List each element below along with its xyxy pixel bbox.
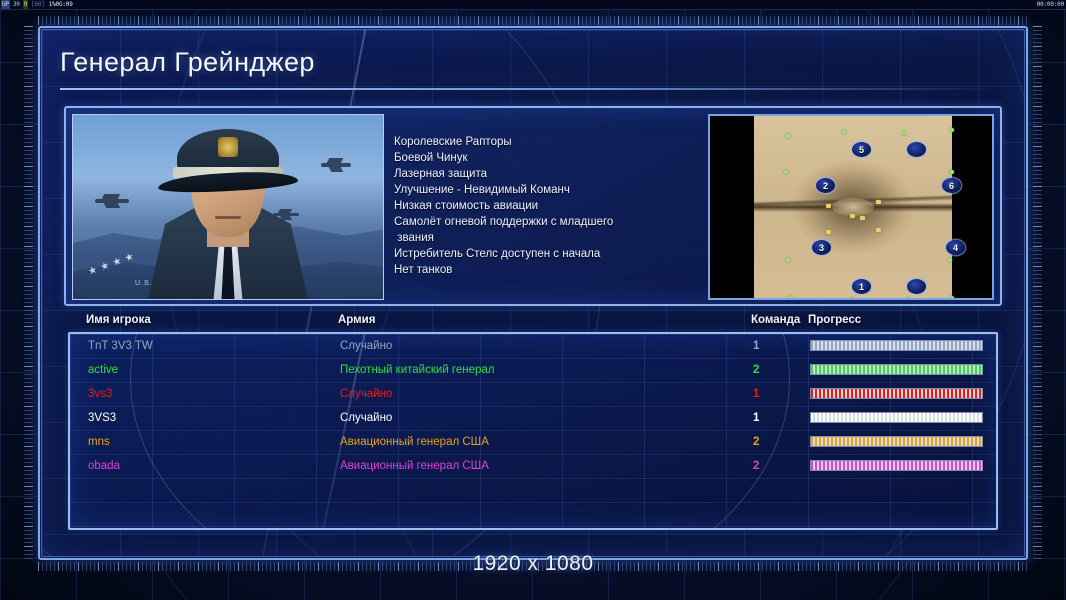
system-timer: 00:00:00 (1037, 0, 1064, 9)
player-team: 2 (753, 436, 759, 448)
progress-fill (811, 437, 982, 446)
map-start-position[interactable]: 2 (816, 178, 835, 193)
aircraft-icon (273, 213, 299, 216)
system-status-left: UP 30 9 [60] 1%0G:09 (1, 0, 74, 9)
cap-eagle-badge-icon (218, 137, 238, 157)
ruler-left (24, 26, 33, 560)
map-supply-icon (826, 230, 831, 234)
progress-fill (811, 365, 982, 374)
player-progress-bar (810, 436, 983, 447)
map-start-position[interactable]: 5 (852, 142, 871, 157)
title-bar: Генерал Грейнджер (60, 42, 1006, 88)
general-info-panel: ★★★★ U.S. Королевские Рапторы Боевой Чин… (64, 106, 1002, 306)
table-row[interactable]: activeПехотный китайский генерал2 (70, 358, 996, 382)
map-resource-dot-icon (948, 258, 952, 262)
map-resource-dot-icon (786, 258, 790, 262)
status-fps-value: 30 (12, 0, 21, 9)
player-table: TnT 3V3 TWСлучайно1activeПехотный китайс… (68, 332, 998, 530)
player-team: 1 (753, 412, 759, 424)
general-abilities-list: Королевские Рапторы Боевой Чинук Лазерна… (394, 134, 694, 278)
player-progress-bar (810, 412, 983, 423)
map-start-position[interactable] (907, 142, 926, 157)
ruler-top (38, 16, 1028, 25)
player-name: 3VS3 (88, 412, 116, 424)
ability-line: Низкая стоимость авиации (394, 198, 694, 214)
ability-line: Истребитель Стелс доступен с начала (394, 246, 694, 262)
ability-line: Нет танков (394, 262, 694, 278)
table-row[interactable]: mnsАвиационный генерал США2 (70, 430, 996, 454)
map-supply-icon (860, 216, 865, 220)
map-resource-dot-icon (786, 134, 790, 138)
ruler-right (1033, 26, 1042, 560)
map-supply-icon (876, 228, 881, 232)
status-clock-value: 1%0G:09 (48, 0, 74, 9)
map-terrain: 526341 (754, 116, 952, 298)
header-army: Армия (338, 314, 375, 326)
table-row[interactable]: obadaАвиационный генерал США2 (70, 454, 996, 478)
player-name: mns (88, 436, 110, 448)
player-army: Случайно (340, 388, 392, 400)
map-resource-dot-icon (784, 170, 788, 174)
map-resource-dot-icon (788, 296, 792, 300)
table-row[interactable]: 3VS3Случайно1 (70, 406, 996, 430)
player-army: Случайно (340, 412, 392, 424)
player-name: TnT 3V3 TW (88, 340, 153, 352)
general-portrait: ★★★★ U.S. (72, 114, 384, 300)
map-resource-dot-icon (842, 130, 846, 134)
player-team: 1 (753, 340, 759, 352)
portrait-mouth (215, 216, 241, 219)
map-resource-dot-icon (950, 128, 954, 132)
player-army: Пехотный китайский генерал (340, 364, 495, 376)
header-progress: Прогресс (808, 314, 861, 326)
status-up-label: UP (1, 0, 10, 9)
title-divider (60, 88, 1006, 90)
progress-fill (811, 461, 982, 470)
map-start-position[interactable]: 4 (946, 240, 965, 255)
player-name: 3vs3 (88, 388, 112, 400)
map-start-position[interactable]: 1 (852, 279, 871, 294)
uniform-us-tag: U.S. (135, 280, 153, 287)
player-army: Случайно (340, 340, 392, 352)
progress-fill (811, 389, 982, 398)
map-resource-dot-icon (906, 298, 910, 300)
system-status-bar: UP 30 9 [60] 1%0G:09 00:00:00 (0, 0, 1066, 10)
player-team: 2 (753, 364, 759, 376)
player-name: obada (88, 460, 120, 472)
map-start-position[interactable] (907, 279, 926, 294)
player-team: 2 (753, 460, 759, 472)
map-start-position[interactable]: 6 (942, 178, 961, 193)
status-cap-value: [60] (30, 0, 46, 9)
header-player-name: Имя игрока (86, 314, 151, 326)
player-progress-bar (810, 340, 983, 351)
progress-fill (811, 341, 982, 350)
map-supply-icon (850, 214, 855, 218)
map-supply-icon (826, 204, 831, 208)
player-progress-bar (810, 388, 983, 399)
ability-line: Лазерная защита (394, 166, 694, 182)
map-preview[interactable]: 526341 (708, 114, 994, 300)
player-table-header: Имя игрока Армия Команда Прогресс (68, 314, 998, 332)
map-resource-dot-icon (950, 296, 954, 300)
table-row[interactable]: 3vs3Случайно1 (70, 382, 996, 406)
map-supply-icon (876, 200, 881, 204)
ability-line: звания (394, 230, 694, 246)
ability-line: Королевские Рапторы (394, 134, 694, 150)
aircraft-icon (95, 199, 129, 203)
player-army: Авиационный генерал США (340, 436, 489, 448)
game-lobby-window: Генерал Грейнджер ★★★★ U.S. (38, 26, 1028, 560)
table-row[interactable]: TnT 3V3 TWСлучайно1 (70, 334, 996, 358)
aircraft-icon (321, 163, 351, 167)
ability-line: Улучшение - Невидимый Команч (394, 182, 694, 198)
progress-fill (811, 413, 982, 422)
player-progress-bar (810, 460, 983, 471)
player-progress-bar (810, 364, 983, 375)
map-resource-dot-icon (950, 170, 954, 174)
page-title: Генерал Грейнджер (60, 42, 1006, 82)
map-start-position[interactable]: 3 (812, 240, 831, 255)
status-ping-value: 9 (23, 0, 28, 9)
header-team: Команда (751, 314, 800, 326)
resolution-label: 1920 x 1080 (0, 552, 1066, 576)
player-team: 1 (753, 388, 759, 400)
player-army: Авиационный генерал США (340, 460, 489, 472)
map-resource-dot-icon (902, 131, 906, 135)
map-resource-dot-icon (850, 298, 854, 300)
player-name: active (88, 364, 118, 376)
ability-line: Боевой Чинук (394, 150, 694, 166)
ability-line: Самолёт огневой поддержки с младшего (394, 214, 694, 230)
